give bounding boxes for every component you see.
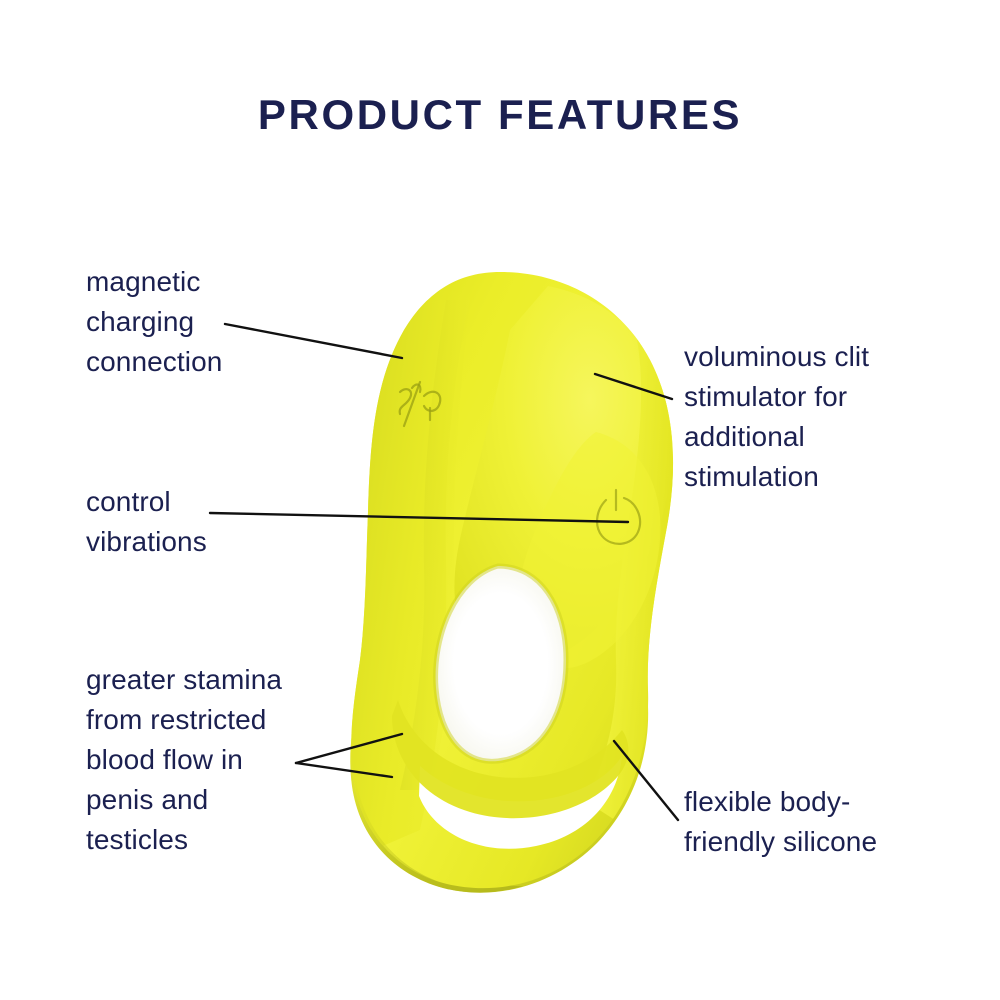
lower-opening-hole [419,756,622,849]
ring-aperture [436,566,566,761]
leader-line-voluminous-clit [595,374,672,399]
aperture-hole [436,566,566,761]
product-features-infographic: PRODUCT FEATURES [0,0,1000,1000]
body-right-band [584,330,673,822]
power-button-mark [597,490,640,544]
callout-flexible-silicone: flexible body- friendly silicone [684,782,984,862]
page-title: PRODUCT FEATURES [0,94,1000,136]
callout-greater-stamina: greater stamina from restricted blood fl… [86,660,396,860]
callout-magnetic-charging: magnetic charging connection [86,262,386,382]
power-pad-lobe [517,432,661,668]
body-silhouette [351,272,673,888]
body-crease [400,300,470,790]
inner-band [392,700,628,818]
magnetic-charging-contacts-mark [400,382,441,426]
aperture-rim [436,566,566,761]
clit-stimulator-lobe [454,286,672,664]
lower-opening [419,756,622,849]
callout-control-vibrations: control vibrations [86,482,386,562]
leader-line-flexible-silicone [614,741,678,820]
callout-voluminous-clit-stimulator: voluminous clit stimulator for additiona… [684,337,984,497]
